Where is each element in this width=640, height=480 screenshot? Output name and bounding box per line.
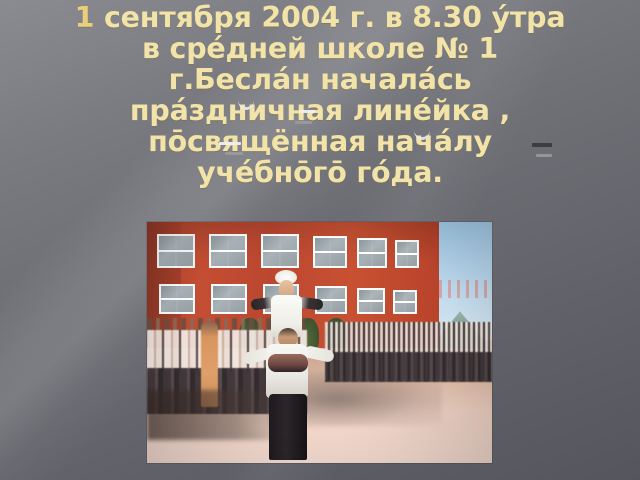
title-line-5: пōсвящённая начáлу xyxy=(0,126,640,157)
slide-title: 1 сентября 2004 г. в 8.30 ýтра в срéдней… xyxy=(0,2,640,188)
title-line-1-text: сентября 2004 г. в 8.30 ýтра xyxy=(94,1,565,34)
title-line-2: в срéдней школе № 1 xyxy=(0,33,640,64)
title-line-4: прáздничная линéйка , xyxy=(0,95,640,126)
photo-vignette xyxy=(147,222,492,463)
school-ceremony-photo xyxy=(147,222,492,463)
title-line-3: г.Беслáн началáсь xyxy=(0,64,640,95)
lead-number: 1 xyxy=(75,1,95,34)
title-line-1: 1 сентября 2004 г. в 8.30 ýтра xyxy=(0,2,640,33)
title-line-6: учéбнōгō гóда. xyxy=(0,157,640,188)
presentation-slide: 1 сентября 2004 г. в 8.30 ýтра в срéдней… xyxy=(0,0,640,480)
